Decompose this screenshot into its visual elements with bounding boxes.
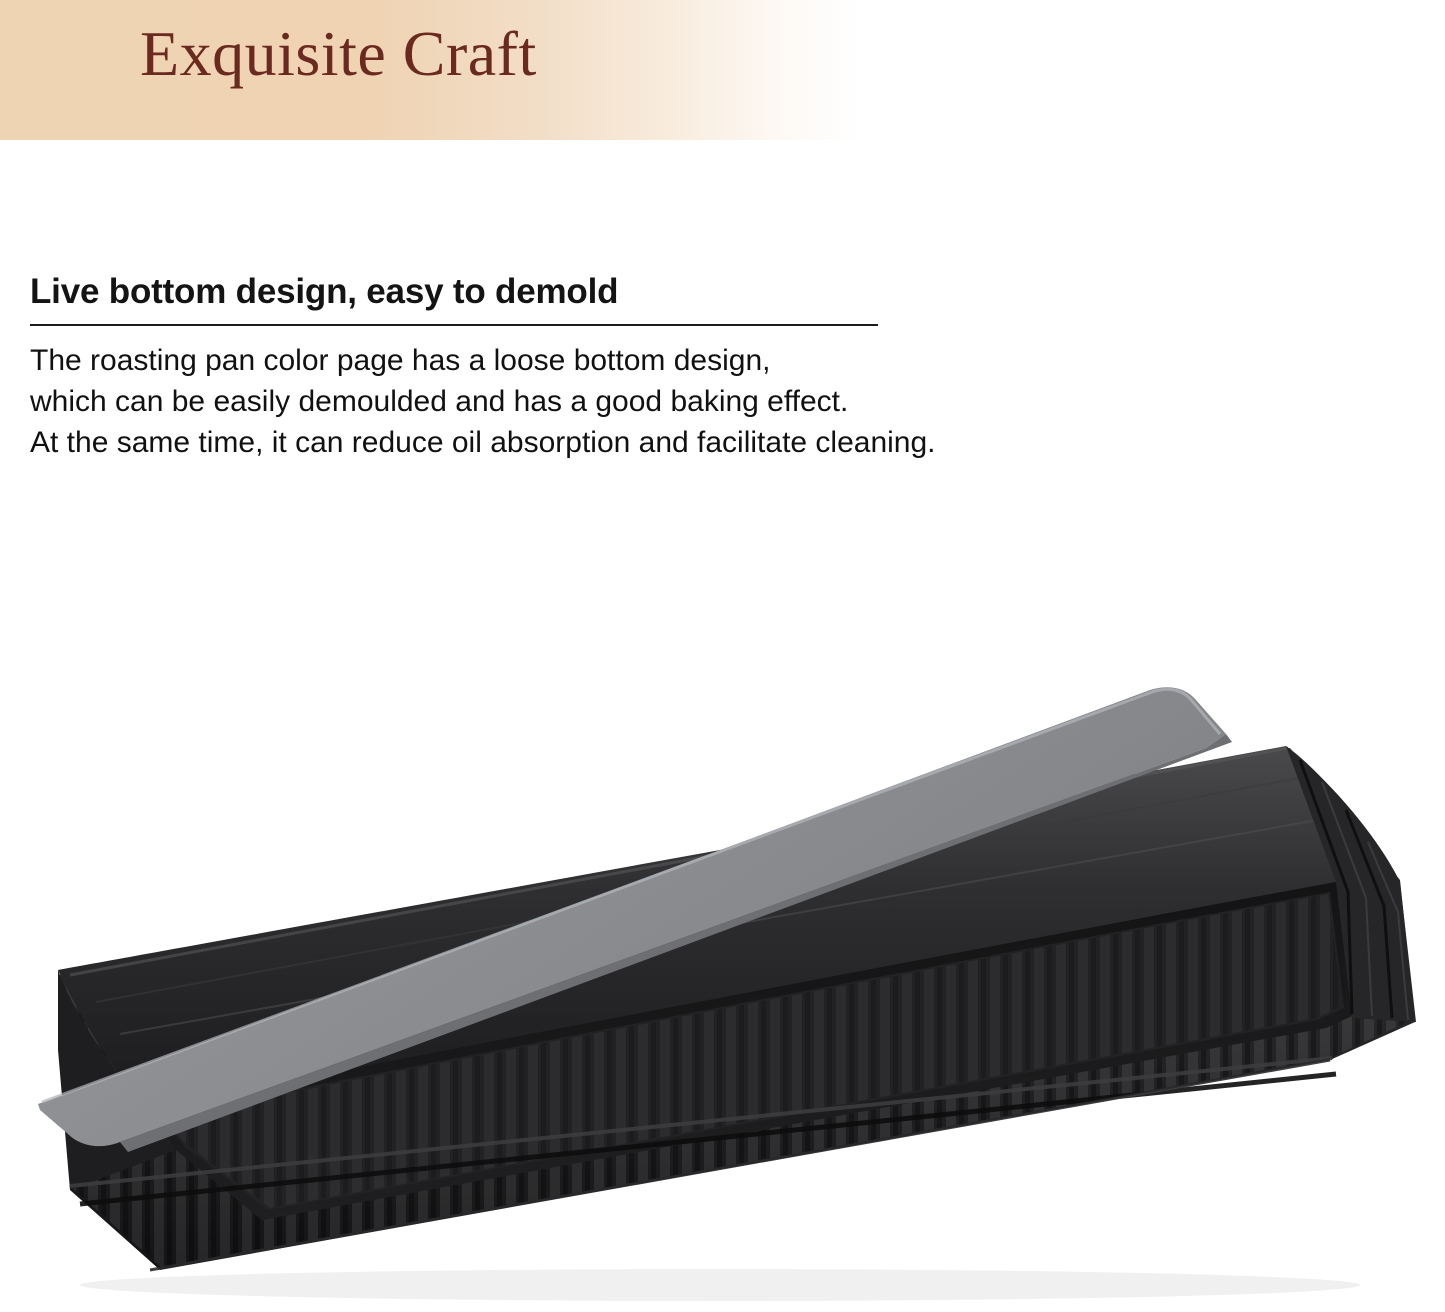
tart-pan-illustration bbox=[0, 630, 1445, 1312]
section-heading: Live bottom design, easy to demold bbox=[30, 272, 1330, 312]
pan-drop-shadow bbox=[80, 1269, 1360, 1301]
section-body-text: The roasting pan color page has a loose … bbox=[30, 340, 1330, 463]
heading-divider bbox=[30, 324, 878, 326]
header-banner: Exquisite Craft bbox=[0, 0, 860, 140]
banner-title: Exquisite Craft bbox=[140, 22, 537, 86]
product-photo bbox=[0, 630, 1445, 1312]
description-section: Live bottom design, easy to demold The r… bbox=[30, 272, 1330, 463]
